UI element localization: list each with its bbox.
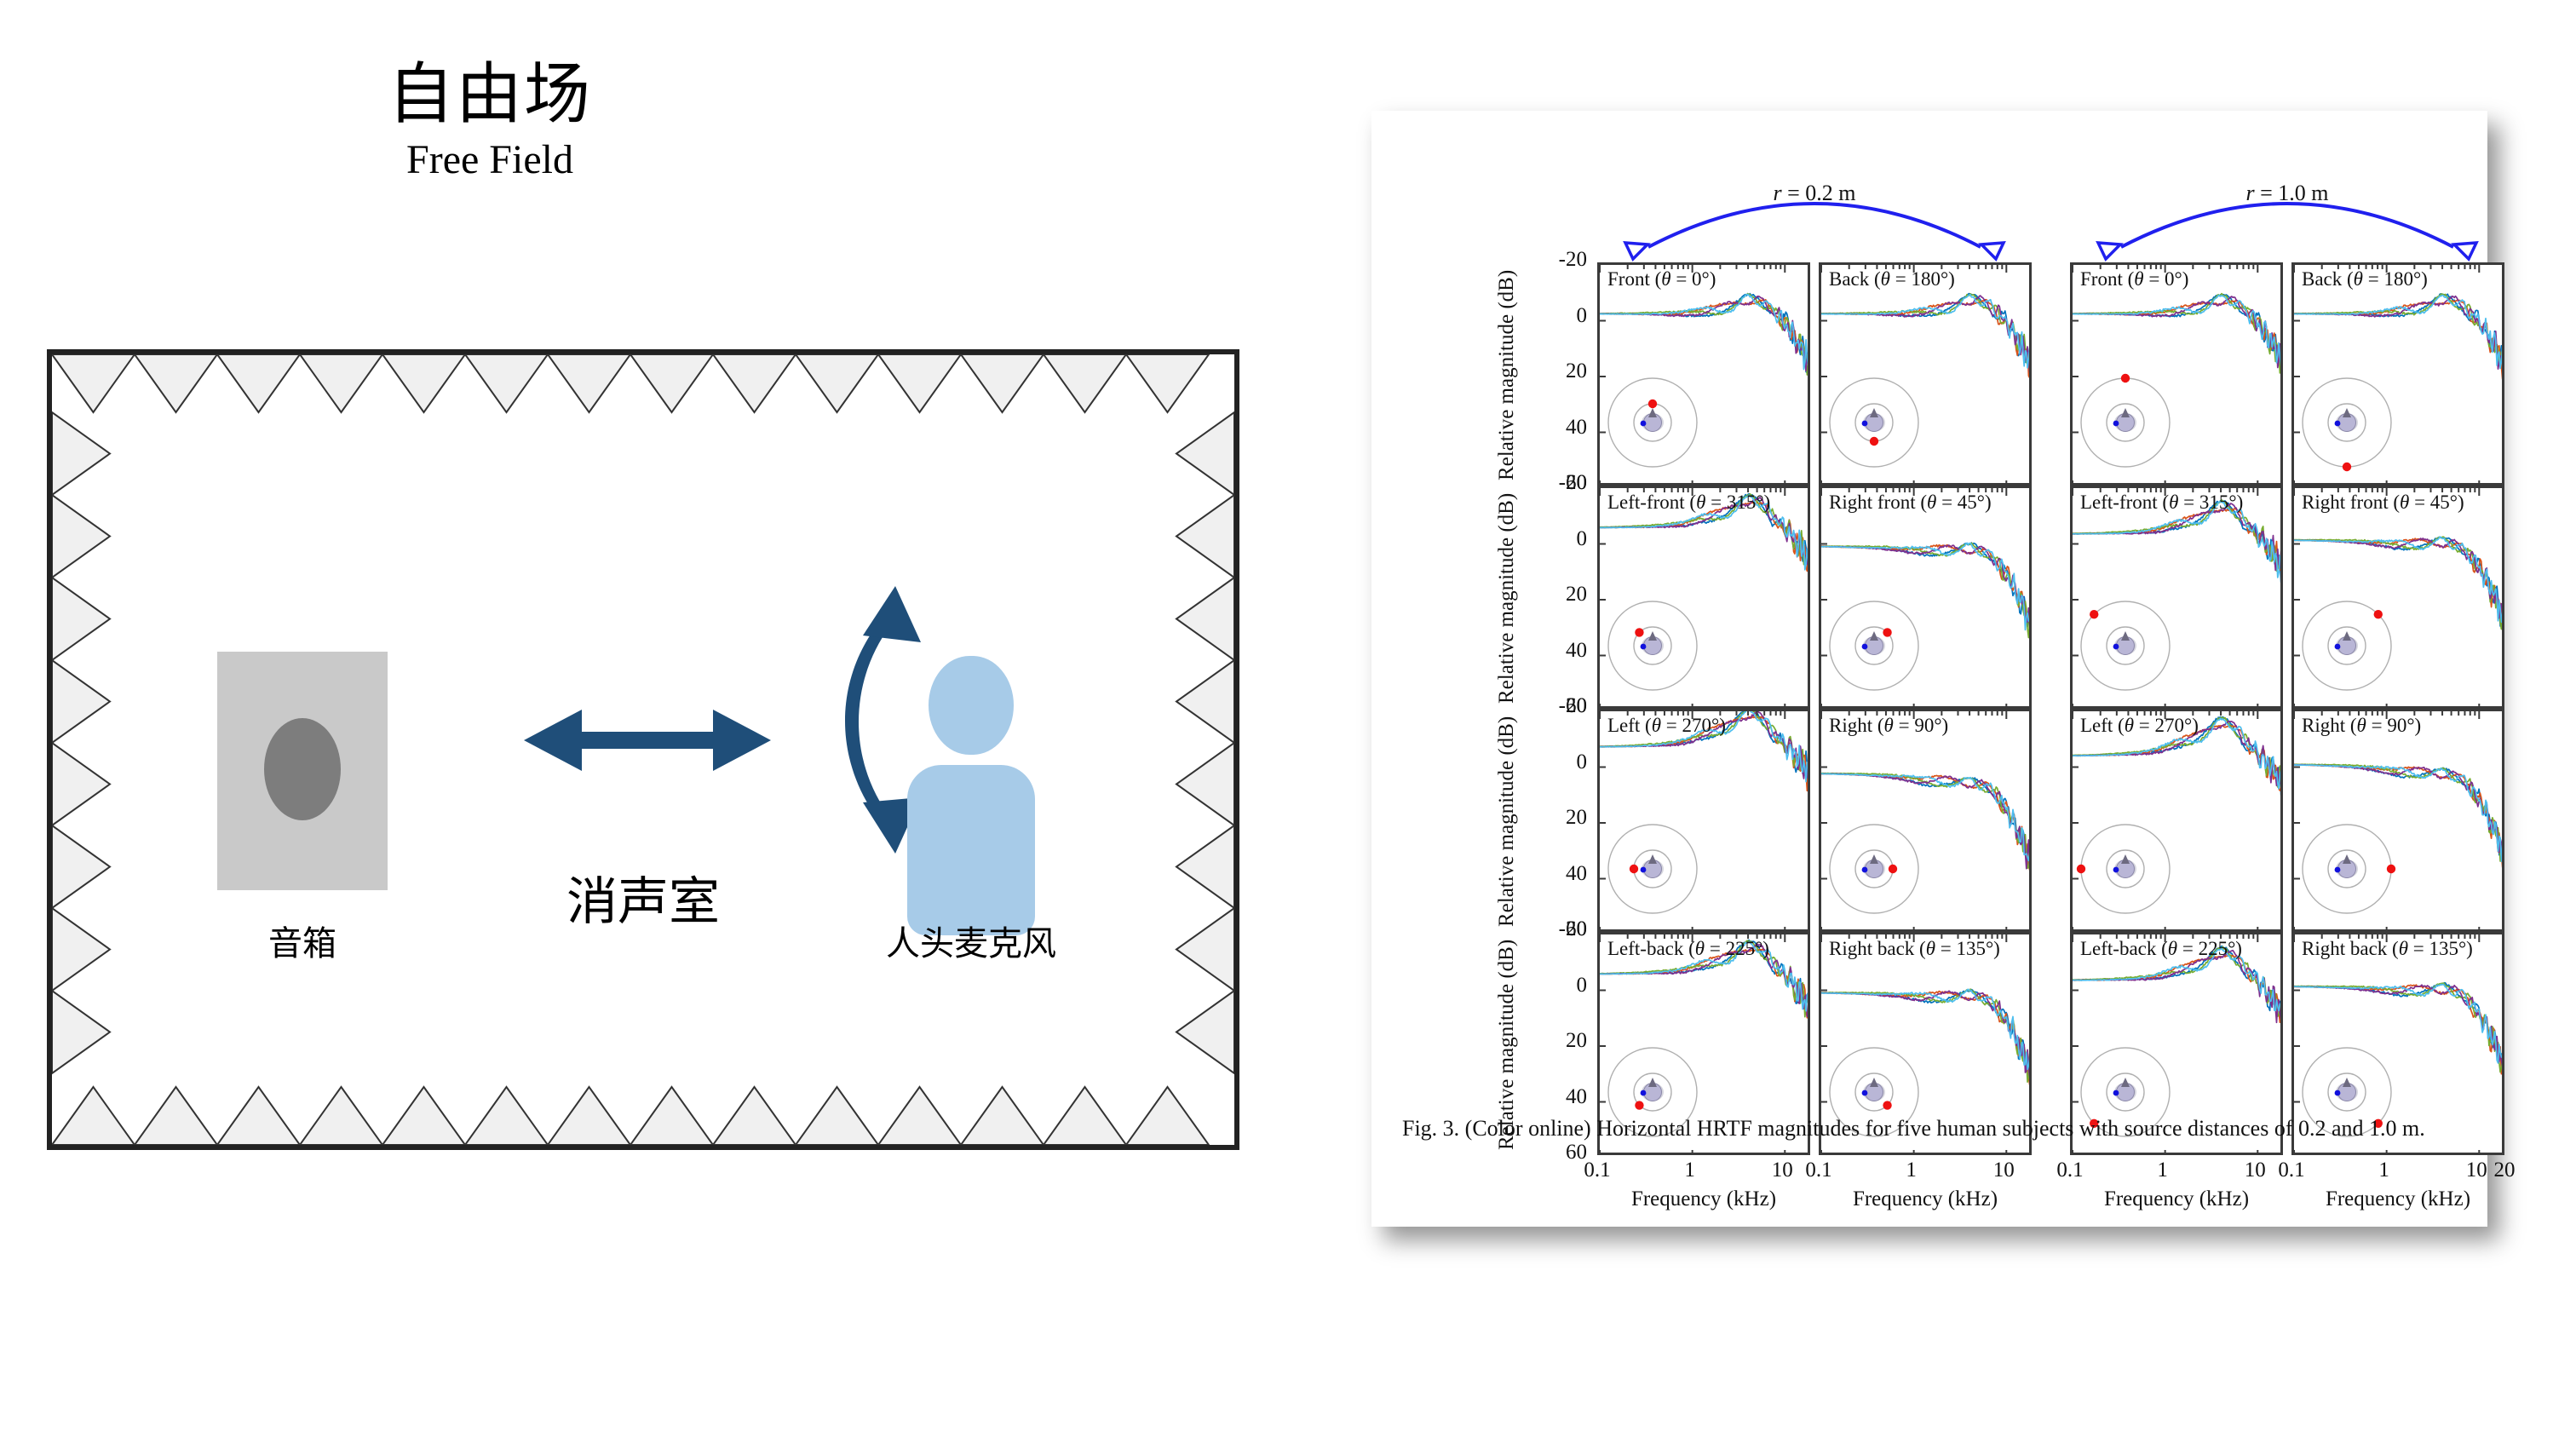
y-tick-label: 0 [1527,304,1587,328]
slide-title-chinese: 自由场 [0,60,980,129]
y-tick-label: 0 [1527,527,1587,551]
panel-ticks [1821,711,2032,932]
hrtf-axes-panel: Back (θ = 180°) [1819,262,2032,486]
panel-ticks [2073,265,2283,486]
y-tick-label: -20 [1527,471,1587,495]
y-tick-label: -20 [1527,917,1587,941]
speaker-label: 音箱 [166,916,439,965]
speaker-icon [217,652,388,890]
y-tick-label: 20 [1527,1029,1587,1053]
x-axis-label: Frequency (kHz) [2291,1187,2504,1211]
y-axis-label: Relative magnitude (dB) [1495,716,1519,927]
x-tick-label: 20 [2479,1159,2530,1182]
panel-ticks [2294,711,2504,932]
y-tick-label: 40 [1527,639,1587,663]
dummy-head-person-icon [890,656,1052,937]
panel-ticks [1821,488,2032,709]
panel-ticks [1600,265,1810,486]
person-head-icon [929,656,1014,755]
figure-caption: Fig. 3. (Color online) Horizontal HRTF m… [1402,1114,2467,1144]
x-axis-label: Frequency (kHz) [1597,1187,1810,1211]
x-tick-label: 0.1 [2266,1159,2317,1182]
hrtf-axes-panel: Right front (θ = 45°) [1819,486,2032,709]
y-tick-label: -20 [1527,248,1587,272]
slide-title-block: 自由场 Free Field [0,60,980,186]
hrtf-axes-panel: Left-front (θ = 315°) [1597,486,1810,709]
panel-ticks [2073,711,2283,932]
distance-label-0: r = 0.2 m [1721,181,1908,206]
hrtf-axes-panel: Back (θ = 180°) [2291,262,2504,486]
y-tick-label: 0 [1527,974,1587,998]
figure-card: Front (θ = 0°)Back (θ = 180°)Front (θ = … [1371,111,2487,1227]
panel-ticks [2294,265,2504,486]
y-tick-label: 20 [1527,806,1587,830]
dummy-head-label: 人头麦克风 [805,916,1137,965]
x-tick-label: 1 [2137,1159,2188,1182]
y-tick-label: 40 [1527,416,1587,440]
hrtf-axes-panel: Right (θ = 90°) [1819,709,2032,932]
y-axis-label: Relative magnitude (dB) [1495,270,1519,480]
hrtf-axes-panel: Left-front (θ = 315°) [2070,486,2283,709]
x-axis-label: Frequency (kHz) [1819,1187,2032,1211]
distance-double-arrow-icon [524,694,771,788]
distance-label-1: r = 1.0 m [2194,181,2381,206]
y-tick-label: 20 [1527,359,1587,383]
x-tick-label: 1 [2359,1159,2410,1182]
slide-title-english: Free Field [0,135,980,186]
y-tick-label: 40 [1527,862,1587,886]
panel-ticks [1821,265,2032,486]
x-tick-label: 0.1 [1793,1159,1844,1182]
y-tick-label: 0 [1527,750,1587,774]
y-tick-label: 40 [1527,1085,1587,1109]
panel-ticks [1600,488,1810,709]
y-tick-label: -20 [1527,694,1587,718]
x-tick-label: 1 [1886,1159,1937,1182]
speaker-driver-icon [264,718,341,820]
x-tick-label: 0.1 [1572,1159,1623,1182]
panel-ticks [1600,711,1810,932]
hrtf-axes-panel: Right front (θ = 45°) [2291,486,2504,709]
free-field-slide: 自由场 Free Field 消声室 音箱 [0,0,1329,1449]
x-tick-label: 1 [1665,1159,1716,1182]
x-axis-label: Frequency (kHz) [2070,1187,2283,1211]
person-body-icon [907,765,1035,935]
hrtf-axes-panel: Right (θ = 90°) [2291,709,2504,932]
y-tick-label: 20 [1527,583,1587,607]
panel-ticks [2073,488,2283,709]
hrtf-axes-panel: Left (θ = 270°) [1597,709,1810,932]
hrtf-axes-panel: Front (θ = 0°) [1597,262,1810,486]
panel-ticks [2294,488,2504,709]
x-tick-label: 10 [1978,1159,2029,1182]
hrtf-panel-grid: Front (θ = 0°)Back (θ = 180°)Front (θ = … [1371,111,2487,1107]
hrtf-axes-panel: Front (θ = 0°) [2070,262,2283,486]
figure-content: Front (θ = 0°)Back (θ = 180°)Front (θ = … [1371,111,2487,1227]
y-axis-label: Relative magnitude (dB) [1495,493,1519,704]
anechoic-chamber-diagram: 消声室 音箱 人头麦克风 [47,349,1239,1150]
hrtf-axes-panel: Left (θ = 270°) [2070,709,2283,932]
x-tick-label: 0.1 [2044,1159,2096,1182]
